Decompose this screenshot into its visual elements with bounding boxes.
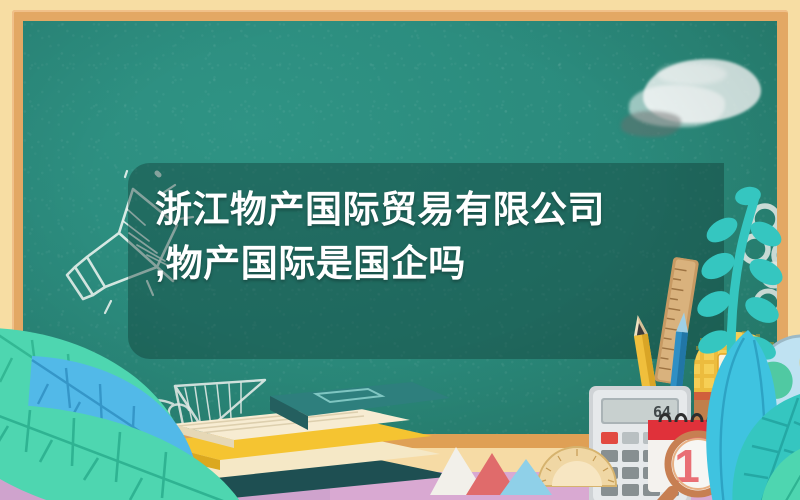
cover-image: 浙江物产国际贸易有限公司 ,物产国际是国企吗	[0, 0, 800, 500]
foliage-right-bottom	[756, 440, 800, 500]
page-title: 浙江物产国际贸易有限公司 ,物产国际是国企吗	[155, 183, 675, 291]
foliage-left-b	[0, 400, 250, 500]
paper-scraps	[430, 439, 610, 500]
